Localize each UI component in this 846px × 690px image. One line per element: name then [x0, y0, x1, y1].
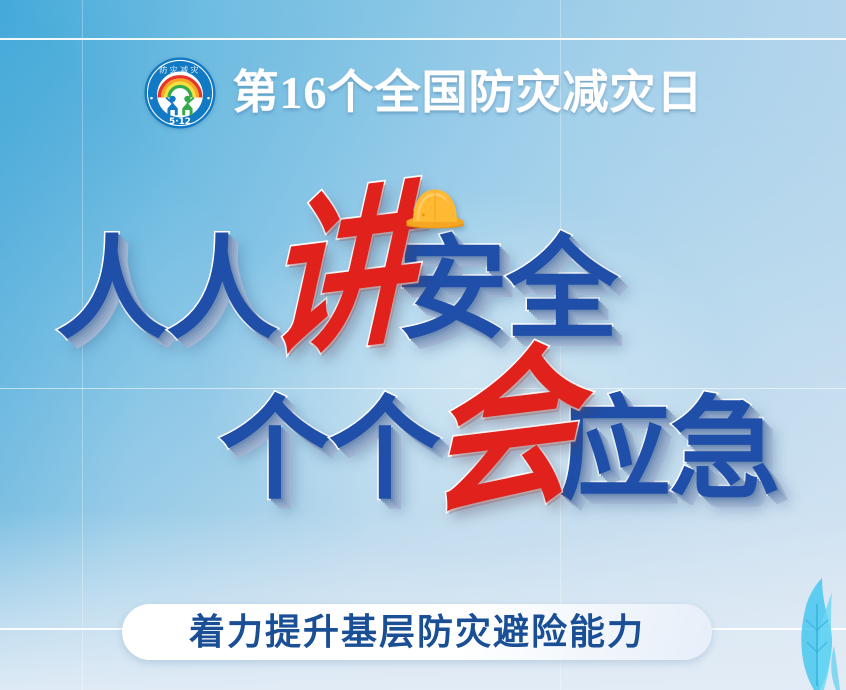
- cyan-leaf-ornament-icon: [770, 578, 840, 690]
- headline-char: 应: [559, 393, 669, 507]
- headline-char-with-helmet: 安: [396, 233, 506, 347]
- headline-line-2: 个 个 会 应 急: [0, 364, 846, 507]
- headline-char: 安: [396, 233, 506, 347]
- header-row: 5·12 防灾减灾 第16个全国防灾减灾日: [0, 56, 846, 130]
- headline-char: 个: [219, 393, 329, 507]
- headline-char: 人: [56, 233, 166, 347]
- hard-hat-icon: [402, 183, 468, 231]
- background-bottom-fade: [0, 510, 846, 690]
- headline-char-brush: 会: [429, 338, 571, 529]
- poster-canvas: 5·12 防灾减灾 第16个全国防灾减灾日 人 人 讲 安 全: [0, 0, 846, 690]
- headline-char-brush: 讲: [266, 180, 408, 371]
- disaster-prevention-day-emblem-icon: 5·12 防灾减灾: [143, 56, 217, 130]
- svg-text:防灾减灾: 防灾减灾: [159, 64, 200, 74]
- slogan-text: 着力提升基层防灾避险能力: [189, 614, 645, 650]
- emblem-caption: 5·12: [169, 117, 191, 127]
- headline-block: 人 人 讲 安 全 个 个 会 应 急: [0, 178, 846, 518]
- headline-char: 个: [329, 393, 439, 507]
- headline-char: 人: [166, 233, 276, 347]
- headline-line-1: 人 人 讲 安 全: [0, 206, 846, 347]
- slogan-banner: 着力提升基层防灾避险能力: [122, 604, 712, 660]
- headline-char: 急: [669, 393, 779, 507]
- page-title: 第16个全国防灾减灾日: [233, 70, 704, 116]
